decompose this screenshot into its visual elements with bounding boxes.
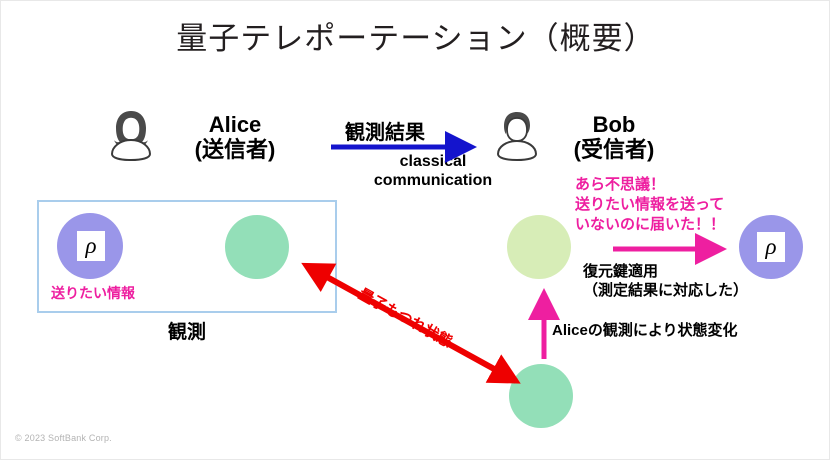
bob-entangled-particle-changed [507, 215, 571, 279]
bob-role: (受信者) [549, 138, 679, 163]
alice-name-block: Alice (送信者) [165, 113, 305, 162]
female-avatar-icon [107, 109, 155, 161]
surprise-text: あら不思議！ 送りたい情報を送って いないのに届いた！！ [575, 175, 725, 235]
surprise-line-1: あら不思議！ [575, 175, 725, 195]
measurement-label: 観測 [37, 317, 337, 344]
restore-key-text: 復元鍵適用 （測定結果に対応した） [583, 263, 748, 301]
alice-rho-symbol: ρ [77, 231, 105, 261]
classical-sub-line1: classical [333, 153, 533, 172]
bob-name-block: Bob (受信者) [549, 113, 679, 162]
classical-channel-title: 観測結果 [345, 116, 425, 145]
bob-rho-symbol: ρ [757, 232, 785, 262]
alice-role: (送信者) [165, 138, 305, 163]
state-change-label: Aliceの観測により状態変化 [552, 319, 738, 340]
classical-sub-line2: communication [333, 172, 533, 191]
surprise-line-3: いないのに届いた！！ [575, 215, 725, 235]
bob-name: Bob [549, 113, 679, 138]
page-title: 量子テレポーテーション（概要） [1, 13, 830, 58]
slide-canvas: 量子テレポーテーション（概要） Alice (送信者) Bob (受信者) 観測… [0, 0, 830, 460]
alice-name: Alice [165, 113, 305, 138]
send-info-caption: 送りたい情報 [51, 283, 135, 303]
restore-key-line-1: 復元鍵適用 [583, 263, 748, 282]
copyright-footer: © 2023 SoftBank Corp. [15, 433, 112, 443]
surprise-line-2: 送りたい情報を送って [575, 195, 725, 215]
entanglement-label: 量子もつれ状態 [355, 283, 456, 352]
bob-entangled-particle [509, 364, 573, 428]
classical-channel-subtitle: classical communication [333, 153, 533, 191]
alice-entangled-particle [225, 215, 289, 279]
restore-key-line-2: （測定結果に対応した） [583, 282, 748, 301]
